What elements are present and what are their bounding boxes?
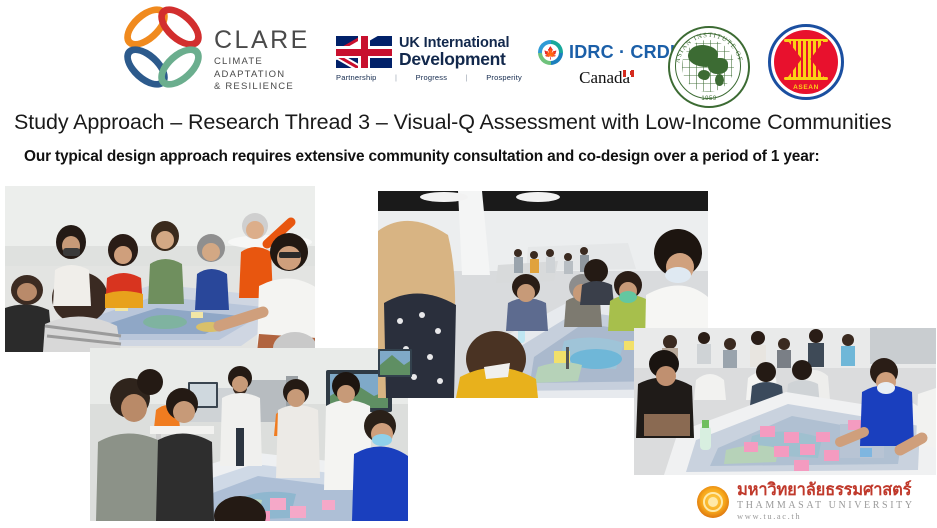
ait-ring-text: ASIAN INSTITUTE OF TECHNOLOGY — [670, 28, 748, 106]
page-title: Study Approach – Research Thread 3 – Vis… — [14, 110, 926, 135]
idrc-crdi-logo: 🍁 IDRC · CRDI Canada — [538, 40, 675, 86]
slide-canvas: CLARE CLIMATE ADAPTATION & RESILIENCE — [0, 0, 937, 528]
ukid-tag-prosperity: Prosperity — [486, 73, 522, 82]
clare-tagline-line3: & RESILIENCE — [214, 81, 310, 94]
thammasat-english-name: THAMMASAT UNIVERSITY — [737, 501, 915, 512]
ukid-tag-progress: Progress — [416, 73, 448, 82]
clare-name: CLARE — [214, 28, 310, 53]
thammasat-seal-icon — [697, 486, 729, 518]
asean-rice-stalks-icon — [788, 41, 824, 77]
canada-flag-icon — [623, 70, 634, 77]
asian-institute-of-technology-logo: ASIAN INSTITUTE OF TECHNOLOGY 1959 — [668, 26, 750, 108]
asean-seal-icon: ASEAN — [768, 24, 844, 100]
clare-tagline-line1: CLIMATE — [214, 56, 310, 69]
workshop-photo-1 — [5, 186, 315, 352]
clare-tagline-line2: ADAPTATION — [214, 69, 310, 82]
ukid-tag-partnership: Partnership — [336, 73, 377, 82]
thammasat-university-logo: มหาวิทยาลัยธรรมศาสตร์ THAMMASAT UNIVERSI… — [697, 482, 915, 521]
workshop-photo-4-image — [634, 328, 936, 475]
canada-wordmark: Canada — [579, 69, 634, 86]
asean-name: ASEAN — [774, 84, 838, 91]
ait-seal-icon: ASIAN INSTITUTE OF TECHNOLOGY 1959 — [668, 26, 750, 108]
workshop-photo-1-image — [5, 186, 315, 352]
idrc-wordmark: IDRC · CRDI — [569, 42, 675, 63]
ait-year: 1959 — [670, 96, 748, 102]
ukid-tagline: Partnership | Progress | Prosperity — [336, 73, 522, 82]
clare-wordmark: CLARE CLIMATE ADAPTATION & RESILIENCE — [214, 6, 310, 94]
idrc-maple-leaf-icon: 🍁 — [538, 40, 563, 65]
ukid-tag-sep-1: | — [395, 73, 397, 82]
uk-international-development-logo: UK International Development Partnership… — [336, 36, 522, 82]
ukid-tag-sep-2: | — [466, 73, 468, 82]
workshop-photo-2 — [90, 348, 408, 521]
svg-text:ASIAN INSTITUTE OF TECHNOLOGY: ASIAN INSTITUTE OF TECHNOLOGY — [670, 28, 744, 65]
union-jack-flag-icon — [336, 36, 392, 68]
workshop-photo-4 — [634, 328, 936, 475]
workshop-photo-2-image — [90, 348, 408, 521]
clare-flower-icon — [118, 2, 210, 98]
page-subtitle: Our typical design approach requires ext… — [24, 148, 924, 166]
thammasat-url: www.tu.ac.th — [737, 512, 915, 521]
thammasat-thai-name: มหาวิทยาลัยธรรมศาสตร์ — [737, 481, 911, 499]
clare-logo: CLARE CLIMATE ADAPTATION & RESILIENCE — [118, 2, 310, 98]
asean-logo: ASEAN — [768, 24, 844, 100]
ukid-line2: Development — [399, 51, 509, 69]
partner-logo-bar: CLARE CLIMATE ADAPTATION & RESILIENCE — [0, 0, 937, 108]
